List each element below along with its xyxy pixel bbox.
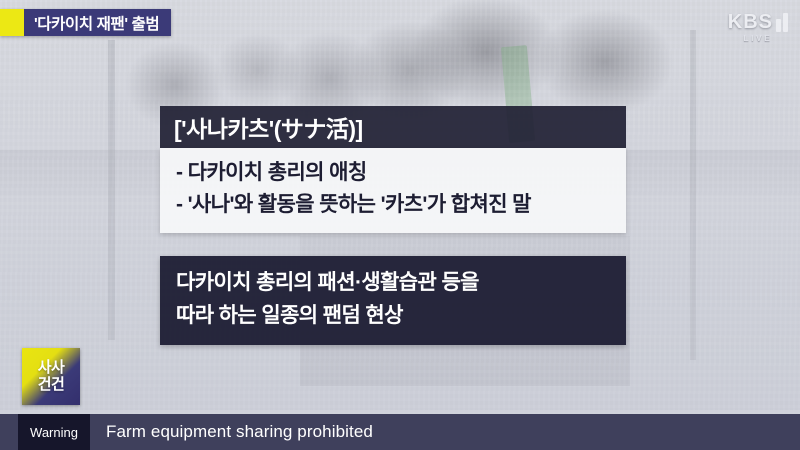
program-logo-line-1: 사사 (38, 360, 65, 376)
title-bar: '다카이치 재팬' 출범 (24, 9, 171, 36)
network-name: KBS (728, 12, 773, 32)
program-title-strip: '다카이치 재팬' 출범 (0, 9, 171, 36)
live-badge: LIVE (728, 33, 788, 43)
ticker-message-text: Farm equipment sharing prohibited (106, 422, 373, 442)
broadcast-screen: '다카이치 재팬' 출범 KBS LIVE ['사나카츠'(サナ活)] - 다카… (0, 0, 800, 450)
title-accent-block (0, 9, 24, 36)
caption-body-line: - '사나'와 활동을 뜻하는 '카츠'가 합쳐진 말 (176, 189, 626, 221)
ticker-badge-text: Warning (30, 425, 78, 440)
caption-body-panel: - 다카이치 총리의 애칭 - '사나'와 활동을 뜻하는 '카츠'가 합쳐진 … (160, 148, 626, 233)
caption-sub-panel: 다카이치 총리의 패션·생활습관 등을 따라 하는 일종의 팬덤 현상 (160, 256, 626, 345)
program-logo-line-2: 건건 (38, 377, 65, 393)
caption-heading-text: ['사나카츠'(サナ活)] (174, 110, 363, 144)
program-logo: 사사 건건 (22, 348, 80, 405)
network-bars-icon (776, 13, 788, 32)
caption-body-line: - 다카이치 총리의 애칭 (176, 157, 626, 189)
program-title-text: '다카이치 재팬' 출범 (34, 12, 159, 34)
network-logo-row: KBS (728, 12, 788, 32)
network-logo: KBS LIVE (728, 12, 788, 43)
caption-heading-bar: ['사나카츠'(サナ活)] (160, 106, 626, 148)
caption-sub-line: 따라 하는 일종의 팬덤 현상 (176, 300, 626, 333)
ticker-message: Farm equipment sharing prohibited (90, 414, 373, 450)
news-ticker: Warning Farm equipment sharing prohibite… (0, 414, 800, 450)
ticker-badge: Warning (18, 414, 90, 450)
caption-sub-line: 다카이치 총리의 패션·생활습관 등을 (176, 267, 626, 300)
